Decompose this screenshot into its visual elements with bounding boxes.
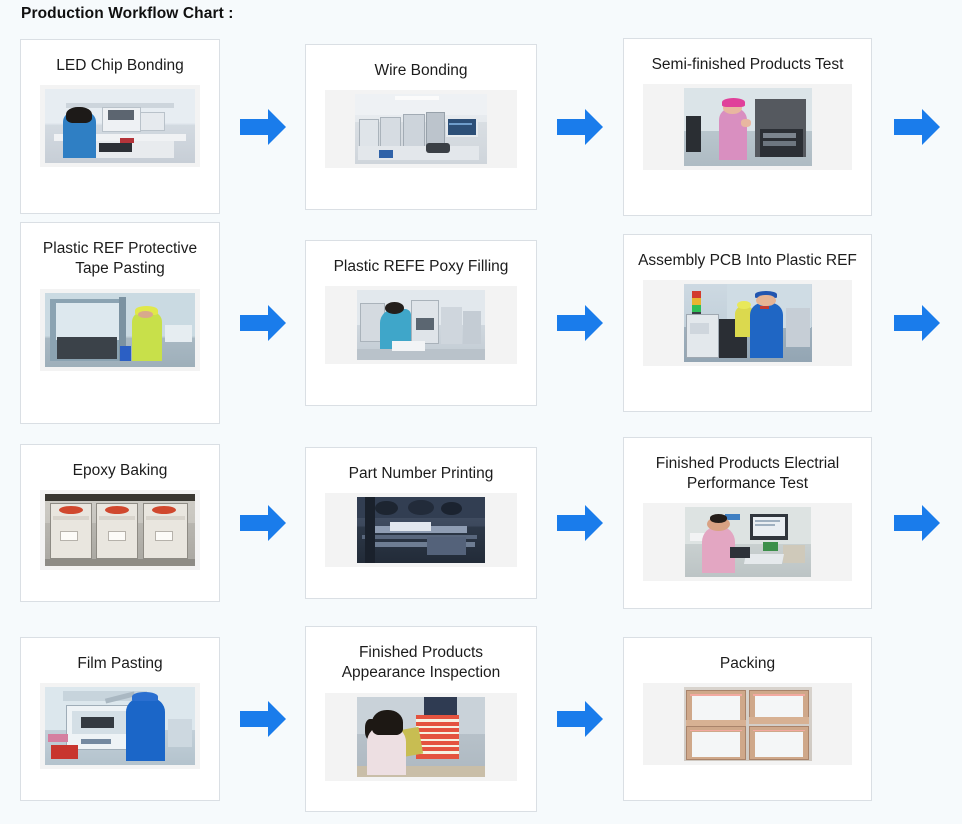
workflow-grid: LED Chip Bonding (0, 33, 962, 824)
arrow-slot (872, 105, 962, 149)
workflow-cell: Film Pasting (0, 637, 305, 801)
finished-products-appearance-inspection-photo (357, 697, 485, 777)
right-arrow-icon (892, 501, 942, 545)
step-card-semi-finished-products-test[interactable]: Semi-finished Products Test (623, 38, 872, 216)
workflow-cell: LED Chip Bonding (0, 39, 305, 214)
step-label: Semi-finished Products Test (634, 51, 861, 75)
step-label: Wire Bonding (316, 57, 526, 81)
arrow-slot (220, 697, 305, 741)
step-card-packing[interactable]: Packing (623, 637, 872, 801)
semi-finished-products-test-photo (684, 88, 812, 166)
step-card-epoxy-baking[interactable]: Epoxy Baking (20, 444, 220, 602)
step-photo-band (40, 683, 200, 769)
right-arrow-icon (238, 501, 288, 545)
step-card-finished-products-electrical-performance-test[interactable]: Finished Products Electrial Performance … (623, 437, 872, 609)
assembly-pcb-into-plastic-ref-photo (684, 284, 812, 362)
right-arrow-icon (555, 301, 605, 345)
step-photo-band (325, 90, 517, 168)
finished-products-electrical-performance-test-photo (685, 507, 811, 577)
step-card-plastic-refe-poxy-filling[interactable]: Plastic REFE Poxy Filling (305, 240, 537, 406)
workflow-cell: Assembly PCB Into Plastic REF (623, 234, 962, 412)
step-photo-band (40, 85, 200, 167)
plastic-ref-protective-tape-pasting-photo (45, 293, 195, 367)
wire-bonding-photo (355, 94, 487, 164)
arrow-slot (537, 105, 623, 149)
workflow-cell: Plastic REF Protective Tape Pasting (0, 222, 305, 424)
packing-photo (684, 687, 812, 761)
step-card-wire-bonding[interactable]: Wire Bonding (305, 44, 537, 210)
right-arrow-icon (892, 105, 942, 149)
step-card-led-chip-bonding[interactable]: LED Chip Bonding (20, 39, 220, 214)
step-label: Packing (634, 650, 861, 674)
right-arrow-icon (238, 301, 288, 345)
part-number-printing-photo (357, 497, 485, 563)
step-photo-band (40, 490, 200, 570)
workflow-cell: Finished Products Electrial Performance … (623, 437, 962, 609)
right-arrow-icon (555, 697, 605, 741)
step-label: Finished Products Electrial Performance … (634, 450, 861, 495)
arrow-slot (220, 105, 305, 149)
film-pasting-photo (45, 687, 195, 765)
step-label: Film Pasting (31, 650, 209, 674)
step-label: LED Chip Bonding (31, 52, 209, 76)
right-arrow-icon (892, 301, 942, 345)
step-photo-band (325, 286, 517, 364)
workflow-cell: Part Number Printing (305, 447, 623, 599)
step-photo-band (40, 289, 200, 371)
workflow-row: Plastic REF Protective Tape Pasting (0, 220, 962, 426)
step-label: Epoxy Baking (31, 457, 209, 481)
workflow-row: Epoxy Baking (0, 426, 962, 619)
step-photo-band (643, 280, 852, 366)
right-arrow-icon (238, 697, 288, 741)
arrow-slot (537, 301, 623, 345)
plastic-refe-poxy-filling-photo (357, 290, 485, 360)
step-card-film-pasting[interactable]: Film Pasting (20, 637, 220, 801)
step-photo-band (325, 493, 517, 567)
arrow-slot (220, 301, 305, 345)
step-label: Part Number Printing (316, 460, 526, 484)
arrow-slot (220, 501, 305, 545)
arrow-slot (537, 697, 623, 741)
step-card-finished-products-appearance-inspection[interactable]: Finished Products Appearance Inspection (305, 626, 537, 812)
workflow-row: LED Chip Bonding (0, 33, 962, 220)
step-photo-band (643, 683, 852, 765)
workflow-cell: Wire Bonding (305, 44, 623, 210)
step-label: Finished Products Appearance Inspection (316, 639, 526, 684)
right-arrow-icon (555, 105, 605, 149)
workflow-cell: Epoxy Baking (0, 444, 305, 602)
workflow-cell: Finished Products Appearance Inspection (305, 626, 623, 812)
step-photo-band (325, 693, 517, 781)
step-card-plastic-ref-protective-tape-pasting[interactable]: Plastic REF Protective Tape Pasting (20, 222, 220, 424)
workflow-cell: Packing (623, 637, 962, 801)
step-label: Assembly PCB Into Plastic REF (634, 247, 861, 271)
epoxy-baking-photo (45, 494, 195, 566)
production-workflow-chart: Production Workflow Chart : LED Chip Bon… (0, 0, 962, 824)
right-arrow-icon (555, 501, 605, 545)
step-card-part-number-printing[interactable]: Part Number Printing (305, 447, 537, 599)
arrow-slot (537, 501, 623, 545)
step-photo-band (643, 503, 852, 581)
step-label: Plastic REF Protective Tape Pasting (31, 235, 209, 280)
workflow-row: Film Pasting (0, 619, 962, 819)
step-photo-band (643, 84, 852, 170)
arrow-slot (872, 501, 962, 545)
step-label: Plastic REFE Poxy Filling (316, 253, 526, 277)
workflow-cell: Semi-finished Products Test (623, 38, 962, 216)
led-chip-bonding-photo (45, 89, 195, 163)
page-title: Production Workflow Chart : (21, 5, 234, 23)
right-arrow-icon (238, 105, 288, 149)
workflow-cell: Plastic REFE Poxy Filling (305, 240, 623, 406)
step-card-assembly-pcb-into-plastic-ref[interactable]: Assembly PCB Into Plastic REF (623, 234, 872, 412)
arrow-slot (872, 301, 962, 345)
